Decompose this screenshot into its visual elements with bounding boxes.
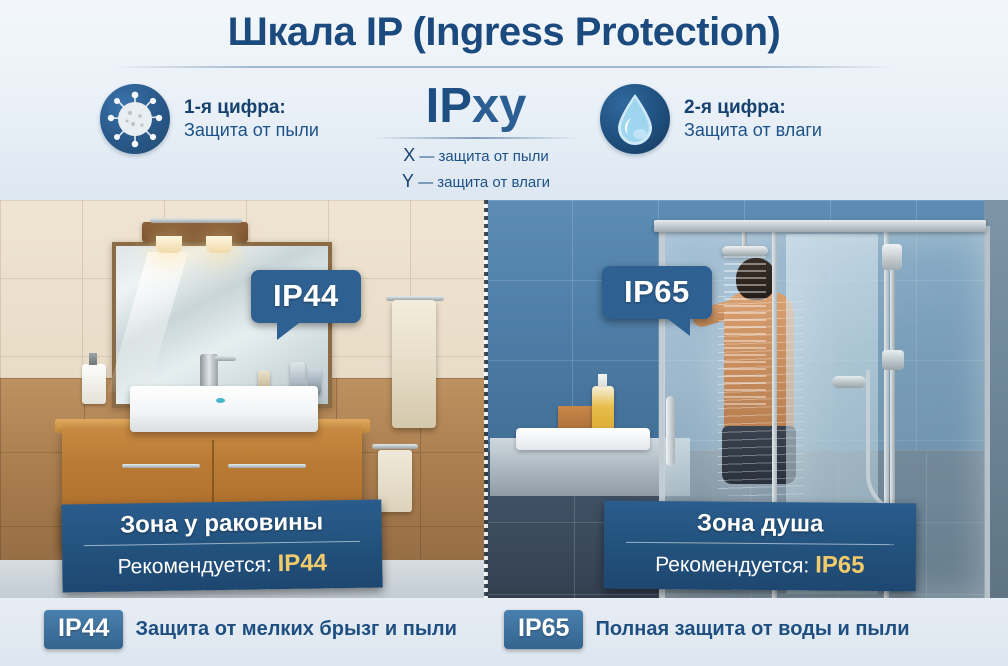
ip-formula-suffix: xy	[472, 79, 527, 133]
ip65-callout-bubble: IP65	[602, 266, 712, 319]
vanity-light-rod	[150, 218, 242, 223]
vessel-sink	[130, 386, 318, 432]
water-drop-glyph	[600, 84, 670, 154]
title-divider	[110, 66, 898, 68]
shower-door-handle	[666, 396, 675, 466]
folded-towel	[516, 428, 650, 450]
formula-explain-x: X — защита от пыли	[355, 143, 597, 169]
formula-explain-y-text: — защита от влаги	[418, 174, 550, 191]
legend-second-digit: 2-я цифра: Защита от влаги	[600, 84, 822, 154]
ip65-callout-label: IP65	[602, 266, 712, 319]
sink-recommend-label: Рекомендуется:	[117, 553, 272, 578]
towel-ring	[372, 444, 418, 449]
cabinet-handle-right	[228, 464, 306, 468]
footer-text-ip65: Полная защита от воды и пыли	[595, 618, 909, 641]
hand-shower-holder	[882, 350, 904, 370]
soap-dispenser-wall	[82, 364, 106, 404]
faucet-spout	[214, 356, 236, 361]
footer-item-ip65: IP65 Полная защита от воды и пыли	[504, 610, 910, 649]
shower-mixer-tap	[832, 376, 866, 388]
footer-text-ip44: Защита от мелких брызг и пыли	[135, 618, 456, 641]
sink-zone-panel: Зона у раковины Рекомендуется: IP44	[61, 499, 382, 592]
footer-section: IP44 Защита от мелких брызг и пыли IP65 …	[0, 598, 1008, 666]
footer-item-ip44: IP44 Защита от мелких брызг и пыли	[44, 610, 457, 649]
sink-drain	[216, 398, 225, 403]
page-title: Шкала IP (Ingress Protection)	[0, 10, 1008, 55]
ip-formula-prefix: IP	[426, 79, 472, 133]
footer-badge-ip65: IP65	[504, 610, 583, 649]
ip44-callout-label: IP44	[251, 270, 361, 323]
vanity-light-bulb-left	[156, 236, 182, 253]
legend-first-digit-line2: Защита от пыли	[184, 120, 319, 141]
formula-divider	[371, 137, 581, 139]
vanity-light-bulb-right	[206, 236, 232, 253]
legend-first-digit-line1: 1-я цифра:	[184, 97, 319, 119]
header-section: Шкала IP (Ingress Protection)	[0, 0, 1008, 200]
cabinet-handle-left	[122, 464, 200, 468]
formula-explain-y: Y — защита от влаги	[355, 169, 597, 195]
hand-shower-head	[882, 244, 902, 270]
small-towel	[378, 450, 412, 512]
sink-zone-title: Зона у раковины	[61, 499, 382, 540]
shower-hose	[866, 370, 910, 514]
infographic-root: Шкала IP (Ingress Protection)	[0, 0, 1008, 666]
cabin-top-rail	[654, 220, 986, 232]
shower-recommend-label: Рекомендуется:	[655, 553, 809, 577]
shower-zone-recommendation: Рекомендуется: IP65	[604, 543, 916, 581]
legend-first-digit: 1-я цифра: Защита от пыли	[100, 84, 319, 154]
ip-formula-code: IPxy	[355, 82, 597, 131]
formula-var-x: X	[403, 145, 415, 165]
legend-first-digit-text: 1-я цифра: Защита от пыли	[184, 97, 319, 141]
rain-shower-head	[722, 246, 768, 256]
dust-particle-icon	[100, 84, 170, 154]
hanging-towel	[392, 300, 436, 428]
footer-badge-ip44: IP44	[44, 610, 123, 649]
water-drop-icon	[600, 84, 670, 154]
legend-second-digit-line1: 2-я цифра:	[684, 97, 822, 119]
ip44-callout-bubble: IP44	[251, 270, 361, 323]
formula-explain-x-text: — защита от пыли	[419, 148, 548, 165]
photo-divider	[484, 200, 488, 598]
shower-zone-title: Зона душа	[604, 501, 916, 540]
shower-zone-panel: Зона душа Рекомендуется: IP65	[604, 501, 917, 592]
shower-recommend-value: IP65	[815, 551, 865, 578]
legend-second-digit-text: 2-я цифра: Защита от влаги	[684, 97, 822, 141]
sink-zone-recommendation: Рекомендуется: IP44	[62, 541, 383, 581]
ip-formula: IPxy X — защита от пыли Y — защита от вл…	[355, 82, 597, 194]
legend-second-digit-line2: Защита от влаги	[684, 120, 822, 141]
formula-var-y: Y	[402, 171, 414, 191]
sink-recommend-value: IP44	[277, 549, 327, 577]
dust-particle-glyph	[100, 84, 170, 154]
